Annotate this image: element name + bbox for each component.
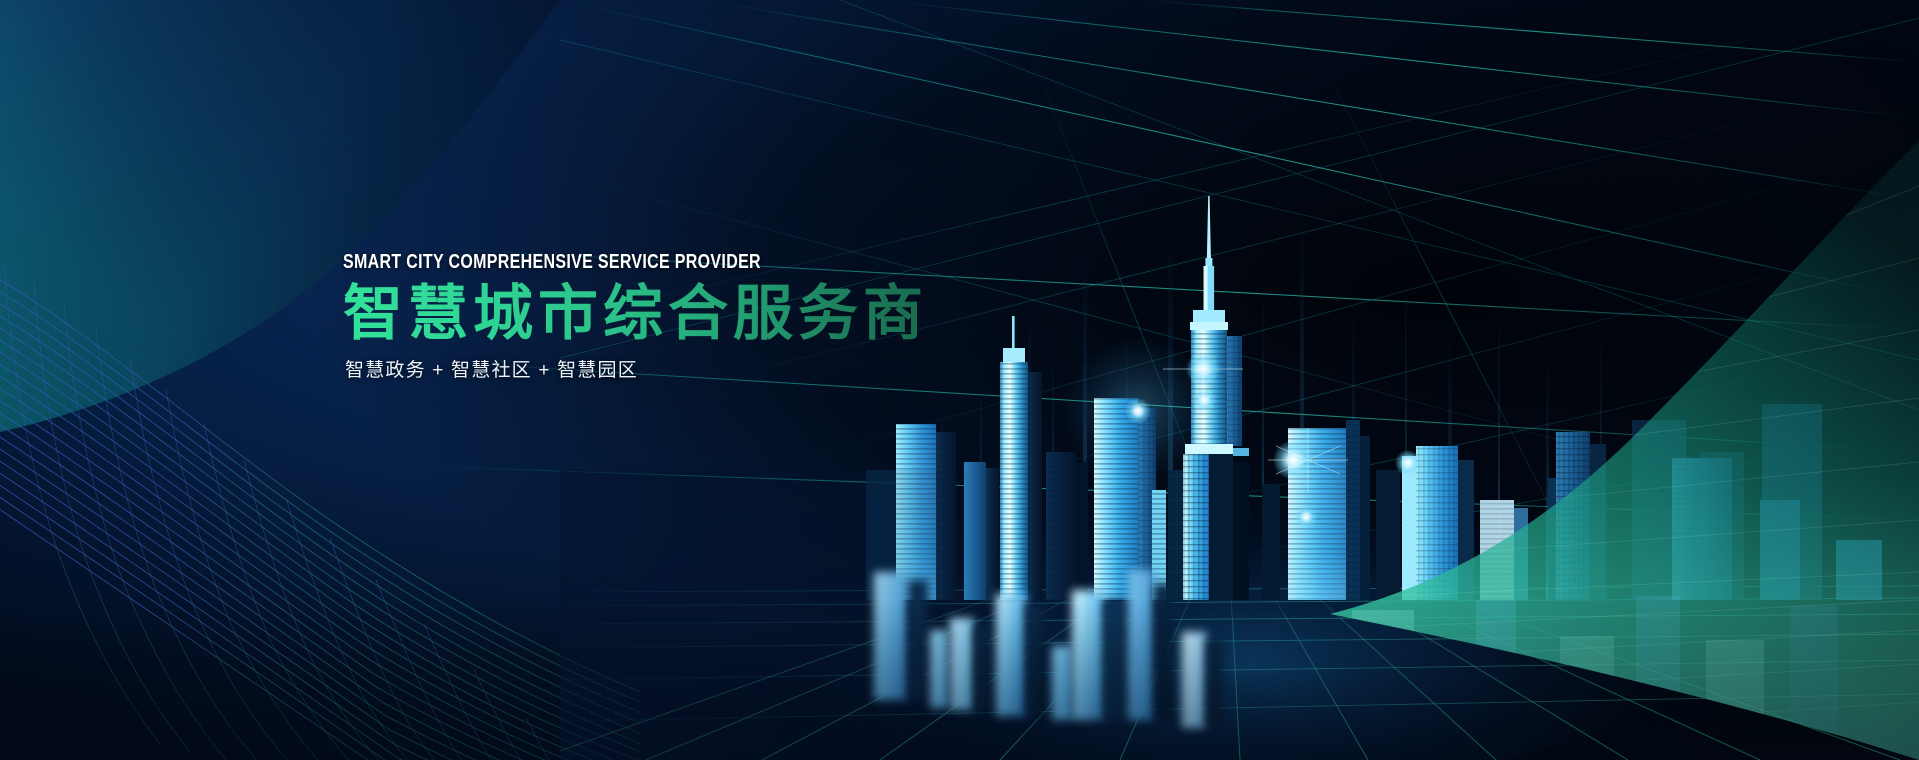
eyebrow-text: SMART CITY COMPREHENSIVE SERVICE PROVIDE…	[343, 252, 811, 272]
bottom-vignette	[0, 0, 1919, 760]
page-title: 智慧城市综合服务商	[343, 282, 928, 347]
smart-city-banner: SMART CITY COMPREHENSIVE SERVICE PROVIDE…	[0, 0, 1919, 760]
headline-text-block: SMART CITY COMPREHENSIVE SERVICE PROVIDE…	[343, 252, 928, 380]
tagline-text: 智慧政务 + 智慧社区 + 智慧园区	[345, 361, 928, 380]
